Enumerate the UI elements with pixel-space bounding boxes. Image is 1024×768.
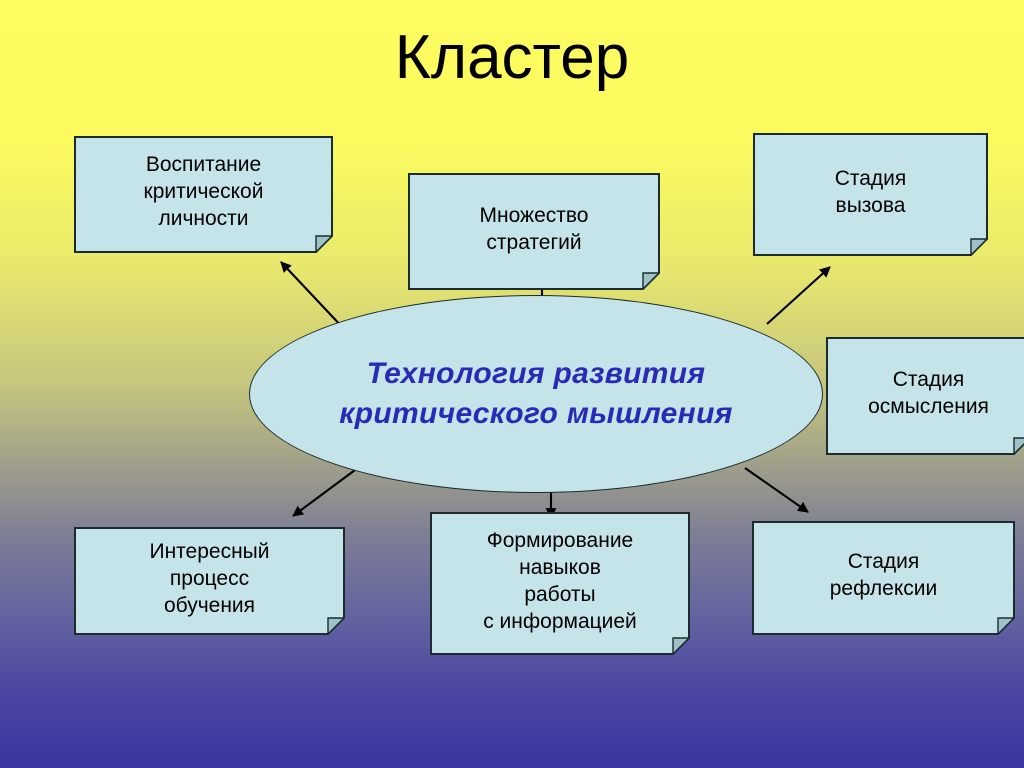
node-stadiya-refleksii[interactable]: Стадия рефлексии (752, 521, 1015, 635)
connector-to-stadiya-refleksii (745, 468, 808, 512)
node-vospitanie[interactable]: Воспитание критической личности (74, 136, 333, 253)
connector-to-interesnyy-process (293, 470, 355, 516)
connector-to-stadiya-vyzova (767, 267, 830, 324)
node-interesnyy-process[interactable]: Интересный процесс обучения (74, 527, 345, 635)
slide-canvas: Кластер Воспитание критической личн (0, 0, 1024, 768)
node-label: Воспитание критической личности (134, 149, 274, 240)
node-center-technology[interactable]: Технология развития критического мышлени… (249, 295, 823, 493)
node-mnozhestvo[interactable]: Множество стратегий (408, 173, 660, 290)
node-label: Стадия рефлексии (820, 546, 948, 610)
node-label: Стадия вызова (825, 163, 917, 227)
page-title: Кластер (0, 22, 1024, 94)
center-node-label: Технология развития критического мышлени… (339, 354, 732, 434)
node-stadiya-vyzova[interactable]: Стадия вызова (753, 133, 988, 256)
node-label: Стадия осмысления (858, 364, 999, 428)
node-stadiya-osmysleniya[interactable]: Стадия осмысления (826, 337, 1024, 455)
node-formirovanie-navykov[interactable]: Формирование навыков работы с информацие… (430, 512, 690, 655)
node-label: Множество стратегий (470, 200, 599, 264)
node-label: Формирование навыков работы с информацие… (473, 525, 647, 643)
connector-to-vospitanie (281, 262, 345, 330)
node-label: Интересный процесс обучения (139, 536, 279, 627)
